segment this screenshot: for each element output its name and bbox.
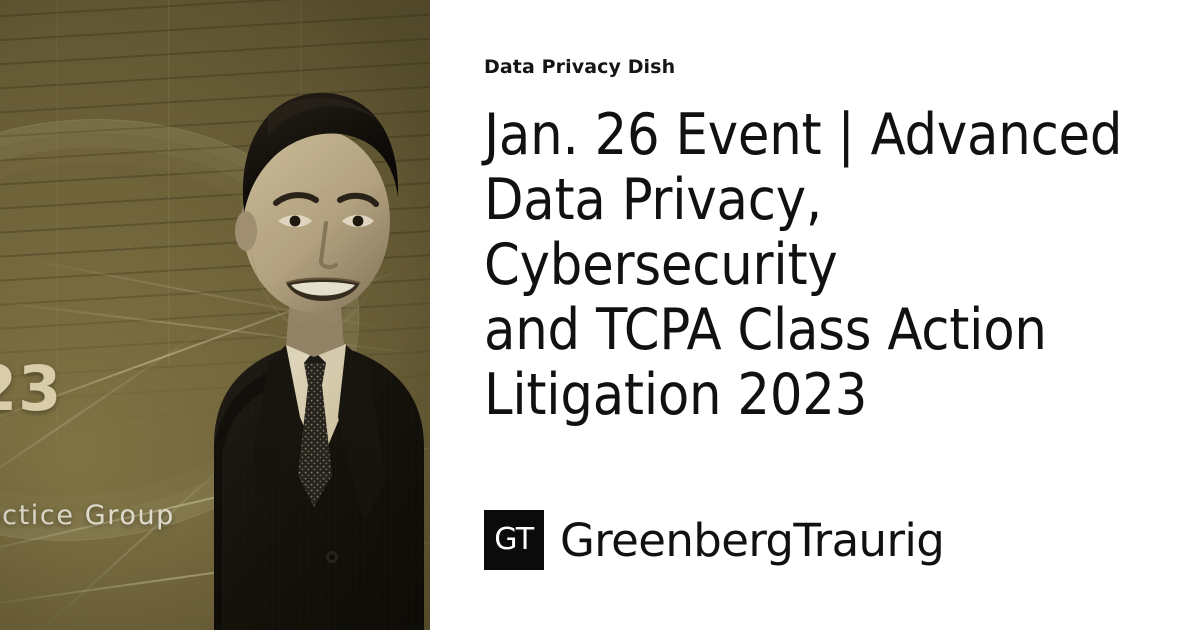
greenberg-traurig-logo[interactable]: GT GreenbergTraurig <box>484 510 944 570</box>
backdrop-year-fragment: 23 <box>0 352 62 425</box>
headline-line: Data Privacy, Cybersecurity <box>484 167 837 298</box>
logo-wordmark: GreenbergTraurig <box>560 518 944 563</box>
headline-line: Litigation 2023 <box>484 362 867 428</box>
gt-monogram-icon: GT <box>484 510 544 570</box>
gt-monogram-label: GT <box>494 525 534 555</box>
speaker-photo <box>118 45 430 630</box>
speaker-portrait-panel: 23 actice Group <box>0 0 430 630</box>
blog-name-kicker: Data Privacy Dish <box>484 56 1140 79</box>
headline-line: and TCPA Class Action <box>484 297 1047 363</box>
page-title: Jan. 26 Event | Advanced Data Privacy, C… <box>484 103 1140 428</box>
headline-line: Jan. 26 Event | Advanced <box>484 102 1122 168</box>
content-panel: Data Privacy Dish Jan. 26 Event | Advanc… <box>430 0 1200 630</box>
social-share-card: 23 actice Group <box>0 0 1200 630</box>
